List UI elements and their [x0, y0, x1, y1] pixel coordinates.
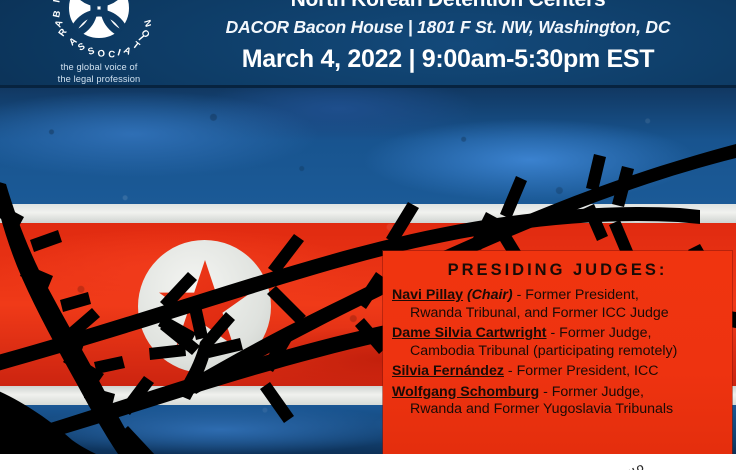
- iba-logo-icon: INTERNATIONAL B A R A S S O C I A T: [47, 0, 151, 60]
- footer-strip: RNATIO: [0, 454, 736, 470]
- svg-text:S: S: [76, 41, 87, 54]
- svg-text:S: S: [87, 45, 96, 57]
- judge-entry: Dame Silvia Cartwright - Former Judge, C…: [392, 325, 724, 360]
- judge-entry: Silvia Fernández - Former President, ICC: [392, 363, 724, 381]
- judge-role: - Former Judge,: [539, 384, 644, 400]
- svg-text:C: C: [108, 49, 116, 60]
- header-text-block: North Korean Detention Centers DACOR Bac…: [168, 0, 728, 73]
- judge-name: Silvia Fernández: [392, 363, 504, 379]
- event-poster: INTERNATIONAL B A R A S S O C I A T: [0, 0, 736, 470]
- iba-logo-block: INTERNATIONAL B A R A S S O C I A T: [38, 0, 160, 85]
- judge-role: - Former President,: [513, 287, 639, 303]
- event-title: North Korean Detention Centers: [168, 0, 728, 10]
- event-venue: DACOR Bacon House | 1801 F St. NW, Washi…: [168, 17, 728, 37]
- judge-role-line2: Cambodia Tribunal (participating remotel…: [392, 343, 724, 361]
- presiding-judges-panel: PRESIDING JUDGES: Navi Pillay (Chair) - …: [383, 251, 732, 454]
- presiding-judges-title: PRESIDING JUDGES:: [383, 261, 732, 280]
- judge-entry: Wolfgang Schomburg - Former Judge, Rwand…: [392, 384, 724, 419]
- iba-tagline-line2: the legal profession: [58, 74, 141, 84]
- judge-role-line2: Rwanda Tribunal, and Former ICC Judge: [392, 305, 724, 323]
- poster-header: INTERNATIONAL B A R A S S O C I A T: [0, 0, 736, 88]
- partial-seal-icon: RNATIO: [596, 455, 724, 470]
- iba-tagline-line1: the global voice of: [61, 62, 138, 72]
- partial-seal-text: RNATIO: [605, 462, 647, 470]
- flag-band-blue-top: [0, 88, 736, 204]
- judge-role: - Former Judge,: [547, 325, 652, 341]
- svg-text:N: N: [141, 19, 151, 29]
- svg-text:B: B: [51, 9, 63, 18]
- svg-text:I: I: [116, 47, 122, 58]
- judge-name: Navi Pillay: [392, 287, 463, 303]
- judge-role-line2: Rwanda and Former Yugoslavia Tribunals: [392, 401, 724, 419]
- flag-band-white-top: [0, 204, 736, 223]
- judges-list: Navi Pillay (Chair) - Former President, …: [383, 287, 732, 419]
- svg-text:O: O: [97, 48, 106, 60]
- judge-name: Dame Silvia Cartwright: [392, 325, 547, 341]
- judge-role: - Former President, ICC: [504, 363, 659, 379]
- event-date-time: March 4, 2022 | 9:00am-5:30pm EST: [168, 45, 728, 73]
- judge-name: Wolfgang Schomburg: [392, 384, 539, 400]
- iba-tagline: the global voice of the legal profession: [38, 62, 160, 85]
- judge-chair-label: (Chair): [467, 287, 513, 303]
- svg-text:T: T: [130, 40, 142, 52]
- svg-text:RNATIO: RNATIO: [605, 462, 647, 470]
- flag-image: PRESIDING JUDGES: Navi Pillay (Chair) - …: [0, 88, 736, 454]
- judge-entry: Navi Pillay (Chair) - Former President, …: [392, 287, 724, 322]
